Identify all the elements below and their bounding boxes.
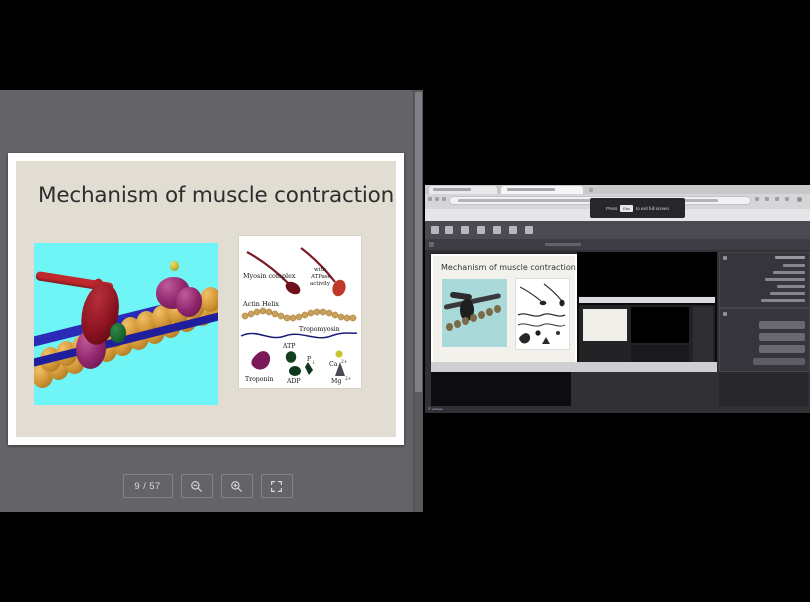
participant-name: [783, 264, 805, 267]
participant-name: [777, 285, 805, 288]
screen-root: Mechanism of muscle contraction: [0, 0, 810, 602]
tooltip-esc-key: Esc: [620, 205, 633, 212]
label-atpase-1: with: [314, 267, 327, 273]
participant-name: [761, 299, 805, 302]
zoom-out-button[interactable]: [181, 474, 213, 498]
fullscreen-icon: [270, 480, 283, 493]
extensions-icon[interactable]: [755, 197, 759, 201]
chat-icon[interactable]: [461, 226, 469, 234]
record-icon[interactable]: [525, 226, 533, 234]
forward-icon[interactable]: [435, 197, 439, 201]
nested-diagram: [515, 278, 570, 350]
participants-icon: [723, 256, 727, 260]
label-atp: ATP: [282, 343, 295, 350]
recursive-side-panel: [693, 307, 713, 365]
slide-canvas: Mechanism of muscle contraction: [16, 161, 396, 437]
participant-name: [773, 271, 805, 274]
shared-app-body: Mechanism of muscle contraction: [425, 250, 810, 413]
chat-panel[interactable]: [719, 308, 810, 372]
label-actin-helix: Actin Helix: [242, 300, 279, 308]
label-tropomyosin: Tropomyosin: [299, 326, 340, 333]
bookmark-star-icon[interactable]: [765, 197, 769, 201]
chat-message: [759, 333, 805, 341]
recursive-slide-thumbnail: [583, 309, 627, 341]
chat-message: [759, 345, 805, 353]
participants-title: [775, 256, 805, 259]
shared-app-subbar: 21:43: [425, 239, 810, 250]
raise-hand-icon[interactable]: [509, 226, 517, 234]
panel-toggle-icon[interactable]: [429, 242, 434, 247]
label-atpase-2: ATPase: [310, 274, 331, 280]
mic-icon[interactable]: [431, 226, 439, 234]
camera-icon[interactable]: [445, 226, 453, 234]
page-indicator[interactable]: 9 / 57: [123, 474, 173, 498]
recursive-video-tile: [631, 307, 689, 343]
actin-bead: [200, 287, 218, 312]
chat-message: [759, 321, 805, 329]
shared-app-toolbar: [425, 221, 810, 239]
label-mg: Mg: [331, 378, 341, 385]
menu-icon[interactable]: [785, 197, 789, 201]
atp-molecule-icon: [286, 351, 296, 363]
nested-actin-bead: [462, 317, 469, 325]
back-icon[interactable]: [428, 197, 432, 201]
nested-myosin-actin-render: [442, 279, 507, 347]
chat-input[interactable]: [753, 358, 805, 365]
label-adp: ADP: [286, 378, 301, 385]
browser-tabstrip: [425, 185, 810, 194]
tooltip-suffix: to exit full screen: [636, 206, 669, 211]
tooltip-prefix: Press: [606, 206, 617, 211]
muscle-contraction-diagram: Myosin complex with ATPase activity Acti…: [238, 235, 362, 389]
recursive-screen-share: [577, 252, 717, 370]
atp-green-molecule: [110, 323, 126, 343]
pencil-icon[interactable]: [493, 226, 501, 234]
page-title: Mechanism of muscle contraction: [38, 183, 394, 208]
reload-icon[interactable]: [442, 197, 446, 201]
nested-diagram-svg: [516, 279, 567, 347]
shared-lower-video: [431, 372, 571, 406]
share-screen-icon[interactable]: [477, 226, 485, 234]
zoom-in-button[interactable]: [221, 474, 253, 498]
fullscreen-hint-tooltip: Press Esc to exit full screen: [590, 198, 685, 218]
nested-actin-bead: [486, 308, 493, 316]
label-pi-subscript: i: [313, 360, 315, 365]
troponin-icon: [251, 351, 270, 369]
shared-side-video-tile: [719, 372, 808, 406]
actin-helix-beads: [242, 308, 356, 321]
label-atpase-3: activity: [310, 281, 331, 287]
magnifier-minus-icon: [190, 480, 203, 493]
subbar-label: [545, 243, 581, 246]
fullscreen-button[interactable]: [261, 474, 293, 498]
chat-icon: [723, 312, 727, 316]
label-ca-superscript: 2+: [341, 360, 348, 365]
nested-actin-bead: [494, 305, 501, 313]
diagram-svg: Myosin complex with ATPase activity Acti…: [239, 236, 359, 386]
participant-name: [770, 292, 805, 295]
label-troponin: Troponin: [245, 376, 273, 383]
shared-lower-browser-bar: [431, 362, 717, 372]
recursive-app-body: [579, 305, 715, 368]
nested-slide-title: Mechanism of muscle contraction: [441, 263, 576, 272]
new-tab-icon[interactable]: [589, 188, 593, 192]
slide-viewer-panel: Mechanism of muscle contraction: [0, 90, 423, 512]
label-ca: Ca: [329, 361, 338, 368]
slide-scrollbar-track[interactable]: [413, 90, 423, 512]
tab-title-text: [507, 188, 555, 191]
label-mg-superscript: 2+: [345, 377, 352, 382]
shared-status-text: صفحه 9: [428, 406, 443, 412]
calcium-ion-icon: [335, 350, 342, 357]
nested-actin-bead: [454, 320, 461, 328]
browser-nav-buttons[interactable]: [428, 196, 447, 203]
participants-panel[interactable]: [719, 252, 810, 308]
avatar[interactable]: [797, 197, 802, 202]
myosin-actin-3d-render: [34, 243, 218, 405]
label-myosin-complex: Myosin complex: [243, 272, 296, 280]
slide-card: Mechanism of muscle contraction: [8, 153, 404, 445]
recursive-black-video: [577, 252, 717, 296]
slide-toolbar: 9 / 57: [0, 474, 415, 498]
label-pi: P: [307, 356, 311, 363]
shared-browser-chrome: درس سامانه آموزش مجازی Press Esc to exit…: [425, 185, 810, 209]
adp-molecule-icon: [289, 366, 301, 376]
recursive-browser-bar: [579, 297, 715, 303]
profile-icon[interactable]: [775, 197, 779, 201]
nested-actin-bead: [470, 314, 477, 322]
phosphate-icon: [305, 362, 313, 375]
nested-actin-bead: [446, 323, 453, 331]
nested-actin-bead: [478, 311, 485, 319]
slide-scrollbar-thumb[interactable]: [415, 92, 422, 392]
tab-title-text: [433, 188, 471, 191]
calcium-ion-sphere: [170, 261, 179, 271]
tropomyosin-wave: [241, 333, 357, 338]
participant-name: [765, 278, 805, 281]
nested-slide-thumbnail[interactable]: Mechanism of muscle contraction: [431, 254, 577, 364]
screen-share-video[interactable]: درس سامانه آموزش مجازی Press Esc to exit…: [425, 185, 810, 413]
magnifier-plus-icon: [230, 480, 243, 493]
